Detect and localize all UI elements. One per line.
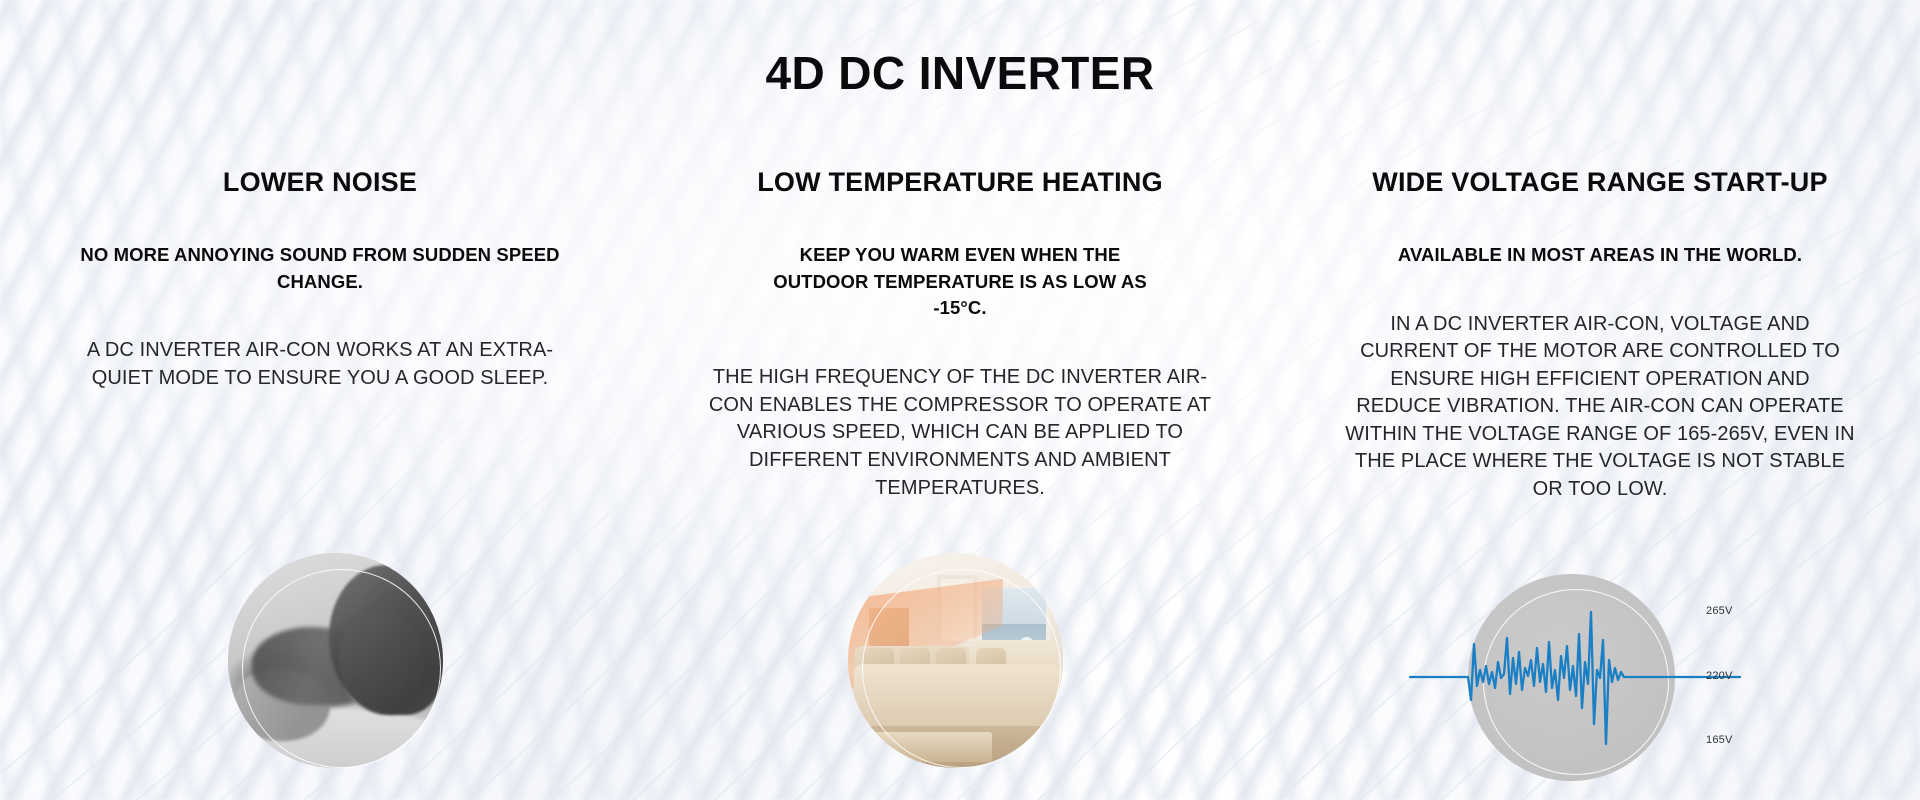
warm-living-room-photo <box>848 553 1063 768</box>
voltage-waveform-chart <box>1410 574 1740 781</box>
column-heading: WIDE VOLTAGE RANGE START-UP <box>1372 168 1827 198</box>
voltage-waveform-line <box>1410 612 1740 744</box>
photo-content <box>228 553 443 768</box>
column-subheading: AVAILABLE IN MOST AREAS IN THE WORLD. <box>1340 242 1860 269</box>
voltage-axis-labels: 265V 220V 165V <box>1706 574 1776 781</box>
column-body-text: IN A DC INVERTER AIR-CON, VOLTAGE AND CU… <box>1345 311 1855 504</box>
voltage-label-upper: 265V <box>1706 605 1733 617</box>
feature-column-wide-voltage-range: WIDE VOLTAGE RANGE START-UP AVAILABLE IN… <box>1280 168 1920 504</box>
column-heading: LOW TEMPERATURE HEATING <box>757 168 1163 198</box>
feature-column-lower-noise: LOWER NOISE NO MORE ANNOYING SOUND FROM … <box>0 168 640 504</box>
feature-column-low-temperature-heating: LOW TEMPERATURE HEATING KEEP YOU WARM EV… <box>640 168 1280 504</box>
column-subheading: KEEP YOU WARM EVEN WHEN THE OUTDOOR TEMP… <box>750 242 1170 322</box>
page-title: 4D DC INVERTER <box>0 46 1920 100</box>
voltage-waveform-graphic: 265V 220V 165V <box>1468 574 1683 789</box>
voltage-label-middle: 220V <box>1706 670 1733 682</box>
sleeping-woman-photo <box>228 553 443 768</box>
photo-content <box>848 553 1063 768</box>
sofa-shape <box>854 664 1062 726</box>
photo-circle-mask <box>848 553 1063 768</box>
infographic-page: 4D DC INVERTER LOWER NOISE NO MORE ANNOY… <box>0 0 1920 800</box>
photo-circle-mask <box>228 553 443 768</box>
column-heading: LOWER NOISE <box>223 168 417 198</box>
feature-columns: LOWER NOISE NO MORE ANNOYING SOUND FROM … <box>0 168 1920 504</box>
column-subheading: NO MORE ANNOYING SOUND FROM SUDDEN SPEED… <box>55 242 585 296</box>
column-body-text: THE HIGH FREQUENCY OF THE DC INVERTER AI… <box>695 364 1225 502</box>
voltage-label-lower: 165V <box>1706 734 1733 746</box>
column-body-text: A DC INVERTER AIR-CON WORKS AT AN EXTRA-… <box>85 337 555 392</box>
coffee-table-shape <box>872 732 992 762</box>
